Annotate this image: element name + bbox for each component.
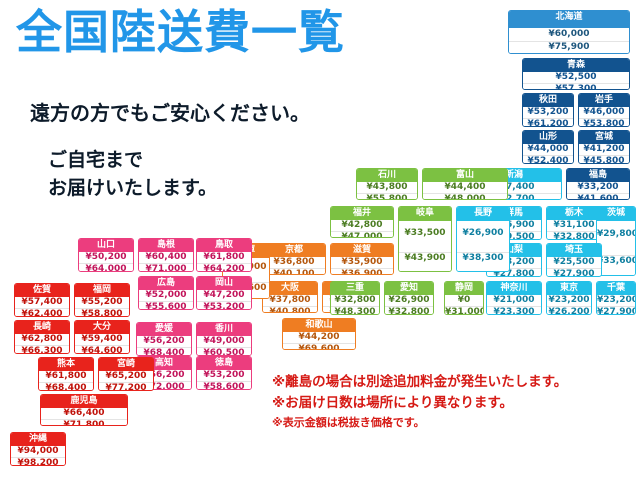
prefecture-name: 沖縄 [11, 433, 65, 446]
prefecture-card-39: 佐賀¥57,400¥62,400 [14, 283, 70, 317]
prefecture-card-38: 徳島¥53,200¥58,600 [196, 356, 252, 390]
price-premium: ¥47,000 [331, 231, 393, 238]
price-premium: ¥36,900 [331, 268, 393, 275]
prefecture-card-31: 島根¥60,400¥71,000 [138, 238, 194, 272]
prefecture-card-22: 京都¥36,800¥40,100 [262, 243, 326, 275]
price-standard: ¥21,000 [487, 295, 541, 306]
prefecture-card-1: 青森¥52,500¥57,300 [522, 58, 630, 90]
price-standard: ¥37,800 [263, 295, 317, 306]
prefecture-card-0: 北海道¥60,000¥75,900 [508, 10, 630, 54]
price-list: ¥33,200¥41,600 [567, 182, 629, 200]
prefecture-card-41: 長崎¥62,800¥66,300 [14, 320, 70, 354]
prefecture-name: 愛媛 [137, 323, 191, 336]
prefecture-name: 宮崎 [99, 358, 153, 371]
price-premium: ¥27,900 [597, 306, 635, 315]
price-list: ¥60,400¥71,000 [139, 252, 193, 272]
prefecture-card-43: 熊本¥61,800¥68,400 [38, 357, 94, 391]
price-list: ¥46,000¥53,800 [579, 107, 629, 127]
prefecture-name: 岐阜 [399, 207, 451, 221]
price-premium: ¥53,200 [197, 301, 251, 310]
prefecture-name: 宮城 [579, 131, 629, 144]
price-premium: ¥48,300 [331, 306, 379, 315]
price-premium: ¥60,500 [197, 347, 251, 356]
prefecture-name: 長崎 [15, 321, 69, 334]
price-premium: ¥71,000 [139, 263, 193, 272]
price-premium: ¥43,900 [399, 252, 451, 264]
prefecture-card-18: 福井¥42,800¥47,000 [330, 206, 394, 238]
price-premium: ¥64,000 [79, 263, 133, 272]
prefecture-card-33: 広島¥52,000¥55,600 [138, 276, 194, 310]
prefecture-card-10: 茨城¥29,800¥33,600 [596, 206, 636, 276]
prefecture-name: 滋賀 [331, 244, 393, 257]
prefecture-card-27: 愛知¥26,900¥32,800 [384, 281, 434, 315]
price-list: ¥53,200¥58,600 [197, 370, 251, 390]
prefecture-card-15: 千葉¥23,200¥27,900 [596, 281, 636, 315]
price-list: ¥55,200¥58,800 [75, 297, 129, 317]
price-list: ¥61,800¥68,400 [39, 371, 93, 391]
prefecture-name: 島根 [139, 239, 193, 252]
prefecture-name: 静岡 [445, 282, 483, 295]
prefecture-card-46: 沖縄¥94,000¥98,200 [10, 432, 66, 466]
price-list: ¥23,200¥26,200 [547, 295, 591, 315]
price-list: ¥59,400¥64,600 [75, 334, 129, 354]
prefecture-name: 青森 [523, 59, 629, 72]
price-list: ¥44,000¥52,400 [523, 144, 573, 164]
page-title: 全国陸送費一覧 [16, 6, 345, 58]
prefecture-card-14: 東京¥23,200¥26,200 [546, 281, 592, 315]
prefecture-name: 岩手 [579, 94, 629, 107]
price-premium: ¥57,300 [523, 83, 629, 90]
price-list: ¥29,800¥33,600 [597, 221, 635, 275]
prefecture-card-5: 宮城¥41,200¥45,800 [578, 130, 630, 164]
price-standard: ¥65,200 [99, 371, 153, 382]
price-premium: ¥64,200 [197, 263, 251, 272]
price-standard: ¥56,200 [137, 336, 191, 347]
price-list: ¥0¥31,000 [445, 295, 483, 315]
price-premium: ¥23,300 [487, 306, 541, 315]
price-list: ¥56,200¥68,400 [137, 336, 191, 356]
prefecture-name: 徳島 [197, 357, 251, 370]
prefecture-name: 大分 [75, 321, 129, 334]
price-premium: ¥61,200 [523, 118, 573, 127]
price-list: ¥25,500¥27,900 [547, 257, 601, 277]
price-premium: ¥98,200 [11, 457, 65, 466]
price-standard: ¥61,800 [197, 252, 251, 263]
price-list: ¥44,200¥69,600 [283, 332, 355, 350]
price-standard: ¥43,800 [357, 182, 417, 193]
price-premium: ¥68,400 [39, 382, 93, 391]
price-standard: ¥52,000 [139, 290, 193, 301]
prefecture-name: 香川 [197, 323, 251, 336]
price-premium: ¥41,600 [567, 193, 629, 200]
price-standard: ¥50,200 [79, 252, 133, 263]
price-list: ¥47,200¥53,200 [197, 290, 251, 310]
prefecture-name: 愛知 [385, 282, 433, 295]
price-list: ¥65,200¥77,200 [99, 371, 153, 391]
price-standard: ¥33,200 [567, 182, 629, 193]
price-standard: ¥49,000 [197, 336, 251, 347]
prefecture-name: 大阪 [263, 282, 317, 295]
price-premium: ¥68,400 [137, 347, 191, 356]
prefecture-card-34: 岡山¥47,200¥53,200 [196, 276, 252, 310]
price-list: ¥36,800¥40,100 [263, 257, 325, 275]
price-standard: ¥44,000 [523, 144, 573, 155]
price-standard: ¥55,200 [75, 297, 129, 308]
prefecture-name: 富山 [423, 169, 507, 182]
price-standard: ¥44,200 [283, 332, 355, 343]
subtitle-line-2a: ご自宅まで [48, 146, 217, 174]
price-standard: ¥62,800 [15, 334, 69, 345]
price-premium: ¥64,600 [75, 345, 129, 354]
prefecture-card-17: 富山¥44,400¥48,000 [422, 168, 508, 200]
prefecture-card-20: 長野¥26,900¥38,300 [456, 206, 510, 272]
prefecture-name: 千葉 [597, 282, 635, 295]
price-premium: ¥66,300 [15, 345, 69, 354]
price-standard: ¥36,800 [263, 257, 325, 268]
prefecture-name: 熊本 [39, 358, 93, 371]
price-list: ¥49,000¥60,500 [197, 336, 251, 356]
price-standard: ¥46,000 [579, 107, 629, 118]
price-premium: ¥77,200 [99, 382, 153, 391]
price-list: ¥44,400¥48,000 [423, 182, 507, 200]
price-premium: ¥62,400 [15, 308, 69, 317]
price-list: ¥61,800¥64,200 [197, 252, 251, 272]
price-list: ¥60,000¥75,900 [509, 28, 629, 53]
price-premium: ¥31,000 [445, 306, 483, 315]
price-premium: ¥71,800 [41, 419, 127, 426]
price-premium: ¥69,600 [283, 343, 355, 350]
prefecture-card-26: 三重¥32,800¥48,300 [330, 281, 380, 315]
prefecture-card-7: 福島¥33,200¥41,600 [566, 168, 630, 200]
price-standard: ¥44,400 [423, 182, 507, 193]
prefecture-card-36: 香川¥49,000¥60,500 [196, 322, 252, 356]
prefecture-name: 広島 [139, 277, 193, 290]
prefecture-name: 京都 [263, 244, 325, 257]
price-standard: ¥25,500 [547, 257, 601, 268]
notes-block: ※離島の場合は別途追加料金が発生いたします。 ※お届け日数は場所により異なります… [272, 372, 634, 432]
prefecture-name: 北海道 [509, 11, 629, 28]
price-list: ¥26,900¥32,800 [385, 295, 433, 315]
price-standard: ¥53,200 [523, 107, 573, 118]
price-list: ¥31,100¥32,800 [547, 220, 601, 240]
shipping-fee-infographic: 全国陸送費一覧 遠方の方でもご安心ください。 ご自宅まで お届けいたします。 北… [0, 0, 640, 480]
price-list: ¥53,200¥61,200 [523, 107, 573, 127]
prefecture-card-44: 宮崎¥65,200¥77,200 [98, 357, 154, 391]
subtitle-line-1: 遠方の方でもご安心ください。 [30, 100, 310, 126]
price-standard: ¥31,100 [547, 220, 601, 231]
prefecture-name: 福井 [331, 207, 393, 220]
price-list: ¥43,800¥55,800 [357, 182, 417, 200]
price-premium: ¥33,600 [597, 255, 635, 267]
price-standard: ¥57,400 [15, 297, 69, 308]
price-premium: ¥27,900 [547, 268, 601, 277]
price-list: ¥23,200¥27,900 [597, 295, 635, 315]
price-standard: ¥53,200 [197, 370, 251, 381]
price-list: ¥50,200¥64,000 [79, 252, 133, 272]
prefecture-name: 福岡 [75, 284, 129, 297]
price-standard: ¥23,200 [597, 295, 635, 306]
prefecture-name: 三重 [331, 282, 379, 295]
price-standard: ¥66,400 [41, 408, 127, 419]
price-standard: ¥61,800 [39, 371, 93, 382]
price-list: ¥94,000¥98,200 [11, 446, 65, 466]
prefecture-card-16: 石川¥43,800¥55,800 [356, 168, 418, 200]
price-standard: ¥41,200 [579, 144, 629, 155]
price-premium: ¥32,800 [547, 231, 601, 240]
price-premium: ¥32,800 [385, 306, 433, 315]
price-standard: ¥94,000 [11, 446, 65, 457]
price-standard: ¥0 [445, 295, 483, 306]
prefecture-name: 鹿児島 [41, 395, 127, 408]
prefecture-name: 秋田 [523, 94, 573, 107]
price-list: ¥66,400¥71,800 [41, 408, 127, 426]
price-premium: ¥48,000 [423, 193, 507, 200]
prefecture-name: 佐賀 [15, 284, 69, 297]
prefecture-card-30: 山口¥50,200¥64,000 [78, 238, 134, 272]
prefecture-name: 和歌山 [283, 319, 355, 332]
note-remote-islands: ※離島の場合は別途追加料金が発生いたします。 [272, 372, 634, 393]
price-premium: ¥40,800 [263, 306, 317, 313]
prefecture-name: 埼玉 [547, 244, 601, 257]
prefecture-card-45: 鹿児島¥66,400¥71,800 [40, 394, 128, 426]
price-standard: ¥33,500 [399, 228, 451, 239]
price-premium: ¥58,800 [75, 308, 129, 317]
prefecture-name: 石川 [357, 169, 417, 182]
price-premium: ¥55,600 [139, 301, 193, 310]
prefecture-card-21: 滋賀¥35,900¥36,900 [330, 243, 394, 275]
price-premium: ¥55,800 [357, 193, 417, 200]
prefecture-card-2: 秋田¥53,200¥61,200 [522, 93, 574, 127]
price-standard: ¥47,200 [197, 290, 251, 301]
price-standard: ¥59,400 [75, 334, 129, 345]
prefecture-card-42: 大分¥59,400¥64,600 [74, 320, 130, 354]
prefecture-card-12: 埼玉¥25,500¥27,900 [546, 243, 602, 277]
price-list: ¥37,800¥40,800 [263, 295, 317, 313]
price-premium: ¥40,100 [263, 268, 325, 275]
prefecture-name: 東京 [547, 282, 591, 295]
prefecture-name: 栃木 [547, 207, 601, 220]
price-list: ¥41,200¥45,800 [579, 144, 629, 164]
price-premium: ¥75,900 [509, 41, 629, 53]
price-standard: ¥29,800 [597, 229, 635, 240]
price-list: ¥32,800¥48,300 [331, 295, 379, 315]
price-premium: ¥53,800 [579, 118, 629, 127]
price-list: ¥26,900¥38,300 [457, 221, 509, 271]
note-tax-excluded: ※表示金額は税抜き価格です。 [272, 414, 634, 432]
price-standard: ¥60,400 [139, 252, 193, 263]
prefecture-card-13: 神奈川¥21,000¥23,300 [486, 281, 542, 315]
prefecture-card-19: 岐阜¥33,500¥43,900 [398, 206, 452, 272]
prefecture-name: 山口 [79, 239, 133, 252]
prefecture-name: 福島 [567, 169, 629, 182]
price-standard: ¥35,900 [331, 257, 393, 268]
price-standard: ¥26,900 [385, 295, 433, 306]
prefecture-name: 長野 [457, 207, 509, 221]
price-standard: ¥26,900 [457, 228, 509, 239]
prefecture-card-9: 栃木¥31,100¥32,800 [546, 206, 602, 240]
prefecture-name: 岡山 [197, 277, 251, 290]
price-list: ¥62,800¥66,300 [15, 334, 69, 354]
price-premium: ¥52,400 [523, 155, 573, 164]
price-standard: ¥52,500 [523, 72, 629, 83]
prefecture-card-3: 岩手¥46,000¥53,800 [578, 93, 630, 127]
price-list: ¥42,800¥47,000 [331, 220, 393, 238]
prefecture-card-25: 和歌山¥44,200¥69,600 [282, 318, 356, 350]
price-premium: ¥45,800 [579, 155, 629, 164]
prefecture-card-23: 大阪¥37,800¥40,800 [262, 281, 318, 313]
price-premium: ¥58,600 [197, 381, 251, 390]
price-list: ¥57,400¥62,400 [15, 297, 69, 317]
prefecture-name: 神奈川 [487, 282, 541, 295]
price-list: ¥35,900¥36,900 [331, 257, 393, 275]
price-list: ¥52,500¥57,300 [523, 72, 629, 90]
prefecture-card-40: 福岡¥55,200¥58,800 [74, 283, 130, 317]
price-premium: ¥38,300 [457, 252, 509, 264]
prefecture-name: 鳥取 [197, 239, 251, 252]
price-standard: ¥23,200 [547, 295, 591, 306]
price-list: ¥33,500¥43,900 [399, 221, 451, 271]
price-list: ¥21,000¥23,300 [487, 295, 541, 315]
prefecture-card-4: 山形¥44,000¥52,400 [522, 130, 574, 164]
price-standard: ¥60,000 [509, 29, 629, 40]
price-premium: ¥26,200 [547, 306, 591, 315]
subtitle-line-2b: お届けいたします。 [48, 174, 217, 202]
note-delivery-days: ※お届け日数は場所により異なります。 [272, 393, 634, 414]
price-standard: ¥42,800 [331, 220, 393, 231]
price-list: ¥52,000¥55,600 [139, 290, 193, 310]
prefecture-name: 茨城 [597, 207, 635, 221]
subtitle-line-2: ご自宅まで お届けいたします。 [48, 146, 217, 202]
prefecture-card-28: 静岡¥0¥31,000 [444, 281, 484, 315]
prefecture-card-32: 鳥取¥61,800¥64,200 [196, 238, 252, 272]
prefecture-name: 山形 [523, 131, 573, 144]
prefecture-card-35: 愛媛¥56,200¥68,400 [136, 322, 192, 356]
price-standard: ¥32,800 [331, 295, 379, 306]
